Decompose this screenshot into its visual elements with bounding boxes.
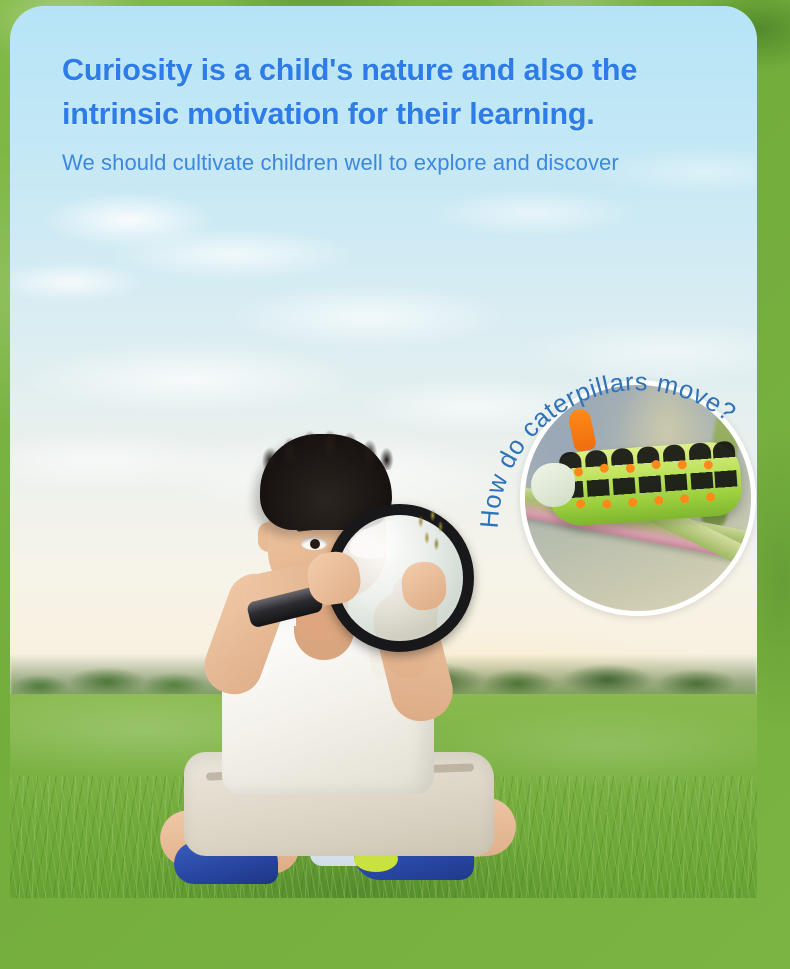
headline-line-2: intrinsic motivation for their learning. [62, 92, 752, 136]
promo-banner: How do caterpillars move? Curiosity is a… [0, 0, 790, 969]
plant-sprig [414, 508, 448, 570]
caterpillar-inset-photo [520, 380, 756, 616]
caterpillar-band [610, 448, 637, 523]
photo-card: How do caterpillars move? Curiosity is a… [10, 6, 757, 898]
caterpillar-band [662, 444, 689, 519]
caterpillar-band [585, 450, 612, 525]
hair-spikes [256, 424, 398, 470]
headline-block: Curiosity is a child's nature and also t… [62, 48, 752, 180]
caterpillar-band [636, 446, 663, 521]
headline-line-1: Curiosity is a child's nature and also t… [62, 48, 752, 92]
caterpillar-band [688, 442, 715, 517]
right-hand [400, 561, 447, 612]
caterpillar-head [531, 463, 575, 507]
sub-headline: We should cultivate children well to exp… [62, 146, 752, 180]
pupil [310, 539, 320, 549]
